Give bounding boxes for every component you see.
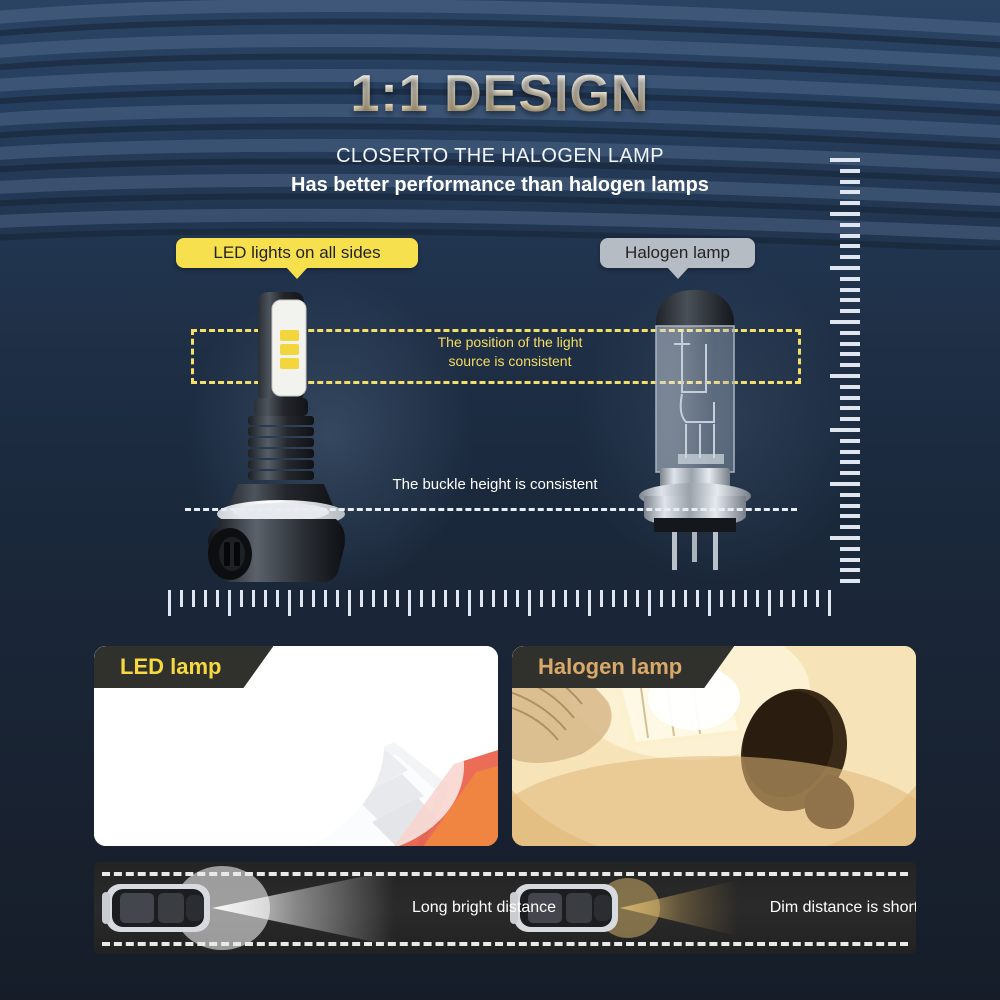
ruler-tick xyxy=(480,590,483,607)
ruler-tick xyxy=(708,590,711,616)
infographic-canvas: 1:1 DESIGN CLOSERTO THE HALOGEN LAMP Has… xyxy=(0,0,1000,1000)
ruler-tick xyxy=(612,590,615,607)
ruler-tick xyxy=(588,590,591,616)
horizontal-ruler xyxy=(168,590,840,618)
ruler-tick xyxy=(830,536,860,540)
ruler-tick xyxy=(840,547,860,551)
ruler-tick xyxy=(840,352,860,356)
halogen-panel-label: Halogen lamp xyxy=(538,654,682,679)
ruler-tick xyxy=(552,590,555,607)
ruler-tick xyxy=(204,590,207,607)
halogen-distance-caption: Dim distance is short xyxy=(704,898,916,918)
ruler-tick xyxy=(684,590,687,607)
ruler-tick xyxy=(636,590,639,607)
ruler-tick xyxy=(324,590,327,607)
ruler-tick xyxy=(444,590,447,607)
ruler-tick xyxy=(564,590,567,607)
ruler-tick xyxy=(396,590,399,607)
ruler-tick xyxy=(840,288,860,292)
callout-tail-icon xyxy=(286,267,308,279)
ruler-tick xyxy=(830,320,860,324)
ruler-tick xyxy=(840,439,860,443)
ruler-tick xyxy=(830,266,860,270)
halogen-comparison-panel: Halogen lamp xyxy=(512,646,916,846)
ruler-tick xyxy=(840,342,860,346)
led-bulb-illustration xyxy=(186,286,376,586)
ruler-tick xyxy=(830,374,860,378)
ruler-tick xyxy=(840,223,860,227)
ruler-tick xyxy=(756,590,759,607)
ruler-tick xyxy=(816,590,819,607)
ruler-tick xyxy=(830,482,860,486)
ruler-tick xyxy=(840,558,860,562)
ruler-tick xyxy=(528,590,531,616)
ruler-tick xyxy=(830,212,860,216)
ruler-tick xyxy=(840,309,860,313)
ruler-tick xyxy=(840,417,860,421)
ruler-tick xyxy=(504,590,507,607)
ruler-tick xyxy=(252,590,255,607)
ruler-tick xyxy=(840,190,860,194)
alignment-note-line-1: The position of the light xyxy=(400,333,620,352)
ruler-tick xyxy=(840,504,860,508)
ruler-tick xyxy=(168,590,171,616)
callout-led-label: LED lights on all sides xyxy=(213,243,380,262)
buckle-note: The buckle height is consistent xyxy=(380,476,610,493)
ruler-tick xyxy=(468,590,471,616)
ruler-tick xyxy=(840,525,860,529)
page-title: 1:1 DESIGN xyxy=(0,64,1000,124)
led-distance-caption: Long bright distance xyxy=(344,898,624,918)
halogen-bulb-illustration xyxy=(620,282,770,572)
ruler-tick xyxy=(840,514,860,518)
ruler-tick xyxy=(624,590,627,607)
lane-marking-bottom xyxy=(102,942,908,946)
ruler-tick xyxy=(600,590,603,607)
ruler-tick xyxy=(840,579,860,583)
ruler-tick xyxy=(456,590,459,607)
ruler-tick xyxy=(840,298,860,302)
ruler-tick xyxy=(840,244,860,248)
ruler-tick xyxy=(840,568,860,572)
ruler-tick xyxy=(228,590,231,616)
halogen-panel-tab: Halogen lamp xyxy=(512,646,734,688)
ruler-tick xyxy=(180,590,183,607)
ruler-tick xyxy=(840,471,860,475)
ruler-tick xyxy=(840,180,860,184)
ruler-tick xyxy=(840,493,860,497)
alignment-note-line-2: source is consistent xyxy=(400,352,620,371)
ruler-tick xyxy=(300,590,303,607)
alignment-note: The position of the light source is cons… xyxy=(400,333,620,371)
ruler-tick xyxy=(372,590,375,607)
ruler-tick xyxy=(360,590,363,607)
ruler-tick xyxy=(240,590,243,607)
ruler-tick xyxy=(840,385,860,389)
lane-marking-top xyxy=(102,872,908,876)
ruler-tick xyxy=(840,396,860,400)
ruler-tick xyxy=(408,590,411,616)
ruler-tick xyxy=(672,590,675,607)
road-comparison-strip: Long bright distance Dim distance is sho… xyxy=(94,862,916,954)
ruler-tick xyxy=(828,590,831,616)
ruler-tick xyxy=(660,590,663,607)
ruler-tick xyxy=(840,169,860,173)
ruler-tick xyxy=(192,590,195,607)
ruler-tick xyxy=(312,590,315,607)
ruler-tick xyxy=(830,158,860,162)
ruler-tick xyxy=(732,590,735,607)
ruler-tick xyxy=(276,590,279,607)
ruler-tick xyxy=(516,590,519,607)
ruler-tick xyxy=(840,201,860,205)
ruler-tick xyxy=(830,428,860,432)
ruler-tick xyxy=(840,255,860,259)
ruler-tick xyxy=(432,590,435,607)
led-panel-tab: LED lamp xyxy=(94,646,273,688)
callout-halogen-label: Halogen lamp xyxy=(625,243,730,262)
callout-tail-icon xyxy=(667,267,689,279)
led-panel-label: LED lamp xyxy=(120,654,221,679)
callout-led-lights[interactable]: LED lights on all sides xyxy=(176,238,418,268)
ruler-tick xyxy=(216,590,219,607)
ruler-tick xyxy=(840,450,860,454)
ruler-tick xyxy=(804,590,807,607)
ruler-tick xyxy=(840,460,860,464)
ruler-tick xyxy=(696,590,699,607)
ruler-tick xyxy=(840,406,860,410)
ruler-tick xyxy=(768,590,771,616)
ruler-tick xyxy=(720,590,723,607)
ruler-tick xyxy=(648,590,651,616)
led-comparison-panel: LED lamp xyxy=(94,646,498,846)
ruler-tick xyxy=(264,590,267,607)
ruler-tick xyxy=(840,363,860,367)
ruler-tick xyxy=(420,590,423,607)
ruler-tick xyxy=(288,590,291,616)
ruler-tick xyxy=(792,590,795,607)
buckle-height-line xyxy=(185,508,797,511)
callout-halogen-lamp[interactable]: Halogen lamp xyxy=(600,238,755,268)
ruler-tick xyxy=(492,590,495,607)
ruler-tick xyxy=(744,590,747,607)
ruler-tick xyxy=(576,590,579,607)
ruler-tick xyxy=(840,277,860,281)
ruler-tick xyxy=(840,331,860,335)
ruler-tick xyxy=(540,590,543,607)
ruler-tick xyxy=(780,590,783,607)
ruler-tick xyxy=(384,590,387,607)
ruler-tick xyxy=(840,234,860,238)
ruler-tick xyxy=(336,590,339,607)
vertical-ruler xyxy=(818,158,860,590)
ruler-tick xyxy=(348,590,351,616)
